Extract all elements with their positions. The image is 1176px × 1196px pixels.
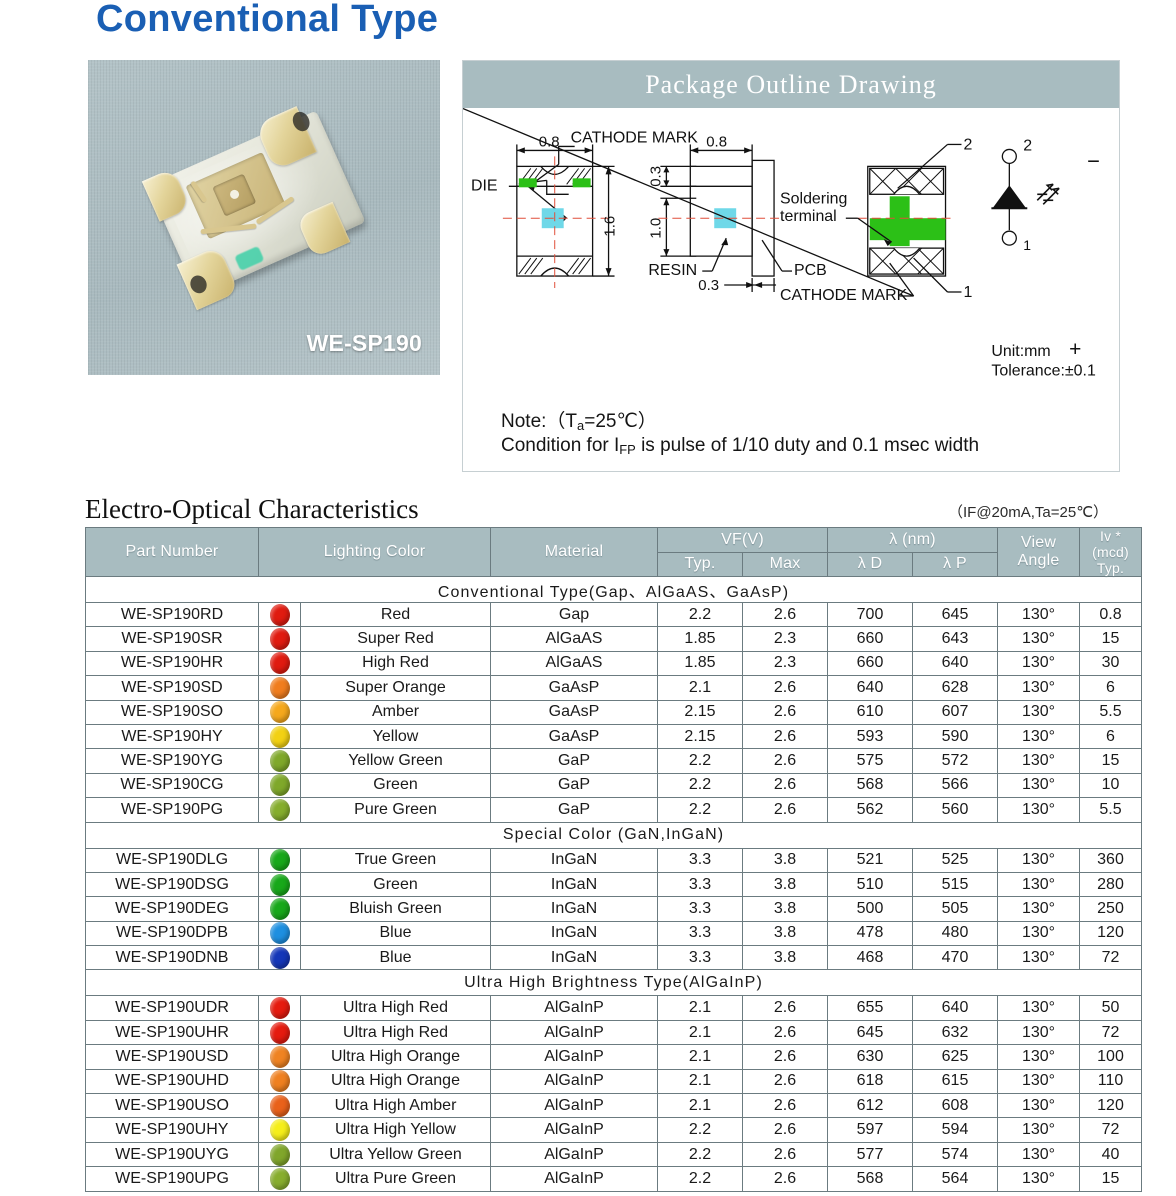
col-header-vf-typ: Typ. — [658, 552, 743, 577]
cell-lambda-p: 640 — [913, 996, 998, 1020]
dim-side-top: 0.3 — [647, 166, 664, 187]
led-color-dot-icon — [270, 898, 290, 920]
cell-vf-typ: 3.3 — [658, 946, 743, 970]
label-cathode-mark-bottom: CATHODE MARK — [780, 287, 908, 304]
cell-lambda-d: 618 — [828, 1069, 913, 1093]
view-angle-line-2: Angle — [998, 552, 1079, 570]
cell-lighting-color: Ultra Pure Green — [301, 1167, 491, 1191]
cell-view-angle: 130° — [998, 651, 1080, 675]
cell-lambda-d: 577 — [828, 1142, 913, 1166]
table-row[interactable]: WE-SP190UYGUltra Yellow GreenAlGaInP2.22… — [86, 1142, 1142, 1166]
cell-lambda-p: 572 — [913, 749, 998, 773]
cell-vf-max: 2.3 — [743, 627, 828, 651]
cell-color-swatch — [259, 798, 301, 822]
cell-vf-max: 2.6 — [743, 1045, 828, 1069]
cell-part-number: WE-SP190USD — [86, 1045, 259, 1069]
cell-vf-typ: 2.1 — [658, 676, 743, 700]
cell-lambda-d: 700 — [828, 603, 913, 627]
cell-vf-typ: 2.1 — [658, 1045, 743, 1069]
cell-lighting-color: Green — [301, 773, 491, 797]
table-row[interactable]: WE-SP190UPGUltra Pure GreenAlGaInP2.22.6… — [86, 1167, 1142, 1191]
cell-material: AlGaAS — [491, 627, 658, 651]
cell-lambda-p: 574 — [913, 1142, 998, 1166]
cell-part-number: WE-SP190SR — [86, 627, 259, 651]
cell-lambda-d: 660 — [828, 627, 913, 651]
table-row[interactable]: WE-SP190UHDUltra High OrangeAlGaInP2.12.… — [86, 1069, 1142, 1093]
cell-iv-typ: 6 — [1080, 724, 1142, 748]
cell-lambda-p: 625 — [913, 1045, 998, 1069]
cell-view-angle: 130° — [998, 627, 1080, 651]
cell-view-angle: 130° — [998, 773, 1080, 797]
cell-lambda-p: 645 — [913, 603, 998, 627]
cell-material: GaAsP — [491, 724, 658, 748]
table-row[interactable]: WE-SP190SRSuper RedAlGaAS1.852.366064313… — [86, 627, 1142, 651]
table-row[interactable]: WE-SP190DSGGreenInGaN3.33.8510515130°280 — [86, 872, 1142, 896]
cell-material: InGaN — [491, 921, 658, 945]
cell-part-number: WE-SP190UPG — [86, 1167, 259, 1191]
cell-vf-typ: 2.2 — [658, 798, 743, 822]
cell-lambda-p: 525 — [913, 848, 998, 872]
dim-top-height: 1.6 — [602, 216, 619, 237]
cell-view-angle: 130° — [998, 1167, 1080, 1191]
cell-vf-typ: 2.1 — [658, 1020, 743, 1044]
cell-part-number: WE-SP190USO — [86, 1094, 259, 1118]
led-color-dot-icon — [270, 701, 290, 723]
col-header-lambda-d: λ D — [828, 552, 913, 577]
cell-vf-max: 2.6 — [743, 996, 828, 1020]
cell-view-angle: 130° — [998, 700, 1080, 724]
cell-part-number: WE-SP190DPB — [86, 921, 259, 945]
cell-lambda-p: 640 — [913, 651, 998, 675]
label-pcb: PCB — [794, 262, 827, 279]
cell-iv-typ: 72 — [1080, 946, 1142, 970]
col-header-material: Material — [491, 528, 658, 577]
cell-vf-max: 2.6 — [743, 700, 828, 724]
table-head: Part Number Lighting Color Material VF(V… — [86, 528, 1142, 577]
cell-vf-typ: 2.15 — [658, 700, 743, 724]
cell-lighting-color: Ultra High Yellow — [301, 1118, 491, 1142]
led-color-dot-icon — [270, 1070, 290, 1092]
cell-iv-typ: 72 — [1080, 1118, 1142, 1142]
led-color-dot-icon — [270, 997, 290, 1019]
cell-vf-typ: 3.3 — [658, 848, 743, 872]
led-color-dot-icon — [270, 652, 290, 674]
cell-vf-max: 3.8 — [743, 946, 828, 970]
cell-vf-typ: 2.1 — [658, 1069, 743, 1093]
cell-part-number: WE-SP190UHY — [86, 1118, 259, 1142]
cell-view-angle: 130° — [998, 848, 1080, 872]
cell-part-number: WE-SP190YG — [86, 749, 259, 773]
cell-lambda-d: 510 — [828, 872, 913, 896]
cell-material: AlGaInP — [491, 1094, 658, 1118]
cell-lighting-color: Green — [301, 872, 491, 896]
cell-color-swatch — [259, 1069, 301, 1093]
note-2-sub: FP — [619, 442, 636, 457]
col-header-part-number: Part Number — [86, 528, 259, 577]
cell-iv-typ: 40 — [1080, 1142, 1142, 1166]
cell-iv-typ: 15 — [1080, 749, 1142, 773]
label-die: DIE — [471, 177, 498, 194]
col-header-lambda: λ (nm) — [828, 528, 998, 553]
cell-view-angle: 130° — [998, 996, 1080, 1020]
package-outline-header: Package Outline Drawing — [463, 61, 1119, 108]
cell-color-swatch — [259, 1142, 301, 1166]
cell-color-swatch — [259, 603, 301, 627]
led-color-dot-icon — [270, 947, 290, 969]
led-color-dot-icon — [270, 874, 290, 896]
table-group-label: Special Color (GaN,InGaN) — [86, 822, 1142, 848]
cell-lambda-p: 628 — [913, 676, 998, 700]
cell-material: AlGaInP — [491, 1045, 658, 1069]
table-group-row: Conventional Type(Gap、AlGaAS、GaAsP) — [86, 577, 1142, 603]
led-color-dot-icon — [270, 799, 290, 821]
table-group-row: Ultra High Brightness Type(AlGaInP) — [86, 970, 1142, 996]
cell-view-angle: 130° — [998, 724, 1080, 748]
cell-lambda-d: 597 — [828, 1118, 913, 1142]
table-row[interactable]: WE-SP190HYYellowGaAsP2.152.6593590130°6 — [86, 724, 1142, 748]
cell-lambda-p: 632 — [913, 1020, 998, 1044]
cell-vf-max: 2.6 — [743, 1069, 828, 1093]
iv-line-1: Iv * — [1080, 528, 1141, 544]
led-color-dot-icon — [270, 677, 290, 699]
dim-side-width: 0.8 — [706, 133, 727, 150]
cell-lighting-color: Ultra High Red — [301, 996, 491, 1020]
cell-color-swatch — [259, 1118, 301, 1142]
table-group-label: Ultra High Brightness Type(AlGaInP) — [86, 970, 1142, 996]
cell-color-swatch — [259, 921, 301, 945]
cell-part-number: WE-SP190UYG — [86, 1142, 259, 1166]
cell-iv-typ: 0.8 — [1080, 603, 1142, 627]
package-outline-panel: Package Outline Drawing CATHODE MARK DIE… — [462, 60, 1120, 472]
cell-vf-typ: 3.3 — [658, 921, 743, 945]
table-row[interactable]: WE-SP190USOUltra High AmberAlGaInP2.12.6… — [86, 1094, 1142, 1118]
cell-lambda-p: 615 — [913, 1069, 998, 1093]
cell-vf-typ: 2.2 — [658, 749, 743, 773]
cell-color-swatch — [259, 897, 301, 921]
cell-material: AlGaInP — [491, 1167, 658, 1191]
cell-iv-typ: 120 — [1080, 1094, 1142, 1118]
label-pin-1: 1 — [1023, 237, 1031, 253]
cell-lambda-d: 640 — [828, 676, 913, 700]
cell-lambda-d: 575 — [828, 749, 913, 773]
note-2-suffix: is pulse of 1/10 duty and 0.1 msec width — [636, 435, 979, 456]
cell-color-swatch — [259, 996, 301, 1020]
led-color-dot-icon — [270, 628, 290, 650]
note-line-1: Note:（Ta=25℃） — [501, 406, 657, 433]
table-row[interactable]: WE-SP190DNBBlueInGaN3.33.8468470130°72 — [86, 946, 1142, 970]
cell-lighting-color: Ultra Yellow Green — [301, 1142, 491, 1166]
cell-material: InGaN — [491, 872, 658, 896]
cell-color-swatch — [259, 700, 301, 724]
label-minus-sign: − — [1087, 148, 1100, 173]
cell-color-swatch — [259, 749, 301, 773]
cell-vf-max: 2.6 — [743, 603, 828, 627]
cell-part-number: WE-SP190SD — [86, 676, 259, 700]
cell-lighting-color: True Green — [301, 848, 491, 872]
cell-vf-typ: 3.3 — [658, 897, 743, 921]
cell-material: GaP — [491, 773, 658, 797]
cell-view-angle: 130° — [998, 676, 1080, 700]
led-color-dot-icon — [270, 1022, 290, 1044]
table-row[interactable]: WE-SP190UHRUltra High RedAlGaInP2.12.664… — [86, 1020, 1142, 1044]
table-header-row-1: Part Number Lighting Color Material VF(V… — [86, 528, 1142, 553]
cell-lambda-d: 468 — [828, 946, 913, 970]
cell-iv-typ: 250 — [1080, 897, 1142, 921]
cell-lambda-d: 630 — [828, 1045, 913, 1069]
cell-part-number: WE-SP190DEG — [86, 897, 259, 921]
cell-view-angle: 130° — [998, 603, 1080, 627]
led-color-dot-icon — [270, 922, 290, 944]
cell-lighting-color: Yellow Green — [301, 749, 491, 773]
note-line-2: Condition for IFP is pulse of 1/10 duty … — [501, 435, 979, 457]
cell-part-number: WE-SP190DNB — [86, 946, 259, 970]
note-1-suffix: =25℃） — [584, 411, 657, 432]
cell-lighting-color: Blue — [301, 921, 491, 945]
cell-part-number: WE-SP190UHD — [86, 1069, 259, 1093]
cell-lambda-p: 505 — [913, 897, 998, 921]
cell-lambda-d: 500 — [828, 897, 913, 921]
cell-color-swatch — [259, 676, 301, 700]
cell-lambda-p: 470 — [913, 946, 998, 970]
cell-vf-max: 3.8 — [743, 897, 828, 921]
cell-color-swatch — [259, 773, 301, 797]
cell-iv-typ: 6 — [1080, 676, 1142, 700]
cell-iv-typ: 50 — [1080, 996, 1142, 1020]
cell-view-angle: 130° — [998, 1069, 1080, 1093]
cell-vf-max: 2.6 — [743, 1020, 828, 1044]
cell-iv-typ: 360 — [1080, 848, 1142, 872]
cell-iv-typ: 110 — [1080, 1069, 1142, 1093]
cell-lambda-d: 655 — [828, 996, 913, 1020]
cell-vf-typ: 1.85 — [658, 651, 743, 675]
cell-color-swatch — [259, 872, 301, 896]
table-body: Conventional Type(Gap、AlGaAS、GaAsP)WE-SP… — [86, 577, 1142, 1192]
led-color-dot-icon — [270, 726, 290, 748]
cell-material: AlGaInP — [491, 1069, 658, 1093]
col-header-vf-max: Max — [743, 552, 828, 577]
label-unit: Unit:mm — [991, 343, 1050, 360]
table-row[interactable]: WE-SP190SOAmberGaAsP2.152.6610607130°5.5 — [86, 700, 1142, 724]
table-row[interactable]: WE-SP190UHYUltra High YellowAlGaInP2.22.… — [86, 1118, 1142, 1142]
cell-color-swatch — [259, 1020, 301, 1044]
cell-view-angle: 130° — [998, 1094, 1080, 1118]
cell-material: InGaN — [491, 897, 658, 921]
cell-vf-max: 2.6 — [743, 724, 828, 748]
led-color-dot-icon — [270, 849, 290, 871]
section-condition: （IF@20mA,Ta=25℃） — [948, 501, 1108, 522]
note-1-prefix: Note:（T — [501, 411, 577, 432]
cell-lighting-color: Blue — [301, 946, 491, 970]
cell-color-swatch — [259, 1045, 301, 1069]
cell-vf-max: 3.8 — [743, 921, 828, 945]
cell-lighting-color: Yellow — [301, 724, 491, 748]
cell-lambda-d: 612 — [828, 1094, 913, 1118]
cell-part-number: WE-SP190UDR — [86, 996, 259, 1020]
cell-part-number: WE-SP190CG — [86, 773, 259, 797]
section-heading: Electro-Optical Characteristics — [85, 494, 419, 525]
cell-lambda-d: 521 — [828, 848, 913, 872]
cell-part-number: WE-SP190PG — [86, 798, 259, 822]
cell-lambda-p: 564 — [913, 1167, 998, 1191]
cell-material: GaAsP — [491, 700, 658, 724]
col-header-vf: VF(V) — [658, 528, 828, 553]
cell-vf-max: 3.8 — [743, 848, 828, 872]
cell-iv-typ: 10 — [1080, 773, 1142, 797]
cell-lambda-p: 594 — [913, 1118, 998, 1142]
label-cathode-mark-top: CATHODE MARK — [571, 129, 699, 146]
table-row[interactable]: WE-SP190SDSuper OrangeGaAsP2.12.66406281… — [86, 676, 1142, 700]
cell-part-number: WE-SP190UHR — [86, 1020, 259, 1044]
table-row[interactable]: WE-SP190HRHigh RedAlGaAS1.852.3660640130… — [86, 651, 1142, 675]
dim-side-thickness: 0.3 — [698, 277, 719, 294]
cell-iv-typ: 30 — [1080, 651, 1142, 675]
cell-lambda-p: 560 — [913, 798, 998, 822]
cell-vf-max: 2.6 — [743, 773, 828, 797]
cell-lambda-d: 478 — [828, 921, 913, 945]
label-resin: RESIN — [648, 262, 697, 279]
cell-iv-typ: 5.5 — [1080, 700, 1142, 724]
cell-view-angle: 130° — [998, 946, 1080, 970]
cell-material: AlGaInP — [491, 1118, 658, 1142]
photo-caption: WE-SP190 — [307, 330, 422, 357]
cell-iv-typ: 5.5 — [1080, 798, 1142, 822]
table-row[interactable]: WE-SP190DPBBlueInGaN3.33.8478480130°120 — [86, 921, 1142, 945]
cell-lighting-color: Super Orange — [301, 676, 491, 700]
cell-lighting-color: Ultra High Amber — [301, 1094, 491, 1118]
cell-vf-max: 2.6 — [743, 676, 828, 700]
cell-color-swatch — [259, 627, 301, 651]
col-header-view-angle: View Angle — [998, 528, 1080, 577]
cell-view-angle: 130° — [998, 798, 1080, 822]
cell-vf-max: 2.6 — [743, 749, 828, 773]
table-group-row: Special Color (GaN,InGaN) — [86, 822, 1142, 848]
cell-vf-typ: 2.1 — [658, 996, 743, 1020]
cell-part-number: WE-SP190DLG — [86, 848, 259, 872]
cell-color-swatch — [259, 651, 301, 675]
label-tolerance: Tolerance:±0.1 — [991, 363, 1096, 380]
cell-vf-typ: 2.2 — [658, 603, 743, 627]
cell-view-angle: 130° — [998, 1045, 1080, 1069]
col-header-lambda-p: λ P — [913, 552, 998, 577]
cell-part-number: WE-SP190SO — [86, 700, 259, 724]
cell-vf-typ: 3.3 — [658, 872, 743, 896]
cell-view-angle: 130° — [998, 749, 1080, 773]
table-row[interactable]: WE-SP190USDUltra High OrangeAlGaInP2.12.… — [86, 1045, 1142, 1069]
label-plus-sign: + — [1069, 338, 1081, 361]
cell-iv-typ: 72 — [1080, 1020, 1142, 1044]
page-title: Conventional Type — [96, 0, 438, 41]
cell-iv-typ: 15 — [1080, 627, 1142, 651]
cell-lighting-color: Bluish Green — [301, 897, 491, 921]
led-color-dot-icon — [270, 1095, 290, 1117]
label-lead-1: 1 — [963, 284, 972, 301]
table-row[interactable]: WE-SP190PGPure GreenGaP2.22.6562560130°5… — [86, 798, 1142, 822]
cell-part-number: WE-SP190DSG — [86, 872, 259, 896]
label-pin-2: 2 — [1023, 137, 1032, 154]
cell-vf-typ: 2.15 — [658, 724, 743, 748]
cell-lighting-color: Pure Green — [301, 798, 491, 822]
cell-material: GaP — [491, 798, 658, 822]
cell-lambda-d: 593 — [828, 724, 913, 748]
cell-color-swatch — [259, 724, 301, 748]
package-outline-title: Package Outline Drawing — [645, 70, 937, 100]
led-color-dot-icon — [270, 604, 290, 626]
cell-vf-typ: 2.2 — [658, 773, 743, 797]
cell-iv-typ: 15 — [1080, 1167, 1142, 1191]
cell-vf-max: 2.6 — [743, 1094, 828, 1118]
cell-part-number: WE-SP190RD — [86, 603, 259, 627]
cell-part-number: WE-SP190HR — [86, 651, 259, 675]
cell-material: AlGaInP — [491, 996, 658, 1020]
led-color-dot-icon — [270, 1046, 290, 1068]
cell-color-swatch — [259, 848, 301, 872]
cell-vf-typ: 1.85 — [658, 627, 743, 651]
cell-lighting-color: Ultra High Orange — [301, 1069, 491, 1093]
cell-vf-max: 3.8 — [743, 872, 828, 896]
cell-color-swatch — [259, 1094, 301, 1118]
iv-line-3: Typ. — [1080, 560, 1141, 576]
table-row[interactable]: WE-SP190DEGBluish GreenInGaN3.33.8500505… — [86, 897, 1142, 921]
cell-lambda-d: 568 — [828, 1167, 913, 1191]
cell-vf-typ: 2.1 — [658, 1094, 743, 1118]
cell-material: Gap — [491, 603, 658, 627]
iv-line-2: (mcd) — [1080, 544, 1141, 560]
product-photo-panel: WE-SP190 — [88, 60, 440, 375]
table-row[interactable]: WE-SP190RDRedGap2.22.6700645130°0.8 — [86, 603, 1142, 627]
cell-lambda-p: 643 — [913, 627, 998, 651]
cell-vf-max: 2.6 — [743, 798, 828, 822]
cell-material: InGaN — [491, 946, 658, 970]
cell-vf-typ: 2.2 — [658, 1167, 743, 1191]
cell-view-angle: 130° — [998, 1142, 1080, 1166]
cell-color-swatch — [259, 946, 301, 970]
cell-lambda-p: 566 — [913, 773, 998, 797]
table-row[interactable]: WE-SP190YGYellow GreenGaP2.22.6575572130… — [86, 749, 1142, 773]
cell-material: AlGaInP — [491, 1142, 658, 1166]
cell-lambda-p: 607 — [913, 700, 998, 724]
cell-vf-max: 2.6 — [743, 1118, 828, 1142]
table-row[interactable]: WE-SP190DLGTrue GreenInGaN3.33.852152513… — [86, 848, 1142, 872]
cell-vf-typ: 2.2 — [658, 1142, 743, 1166]
table-row[interactable]: WE-SP190CGGreenGaP2.22.6568566130°10 — [86, 773, 1142, 797]
dim-side-mid: 1.0 — [647, 218, 664, 239]
cell-lambda-d: 645 — [828, 1020, 913, 1044]
cell-iv-typ: 120 — [1080, 921, 1142, 945]
cell-lighting-color: Super Red — [301, 627, 491, 651]
cell-lambda-d: 660 — [828, 651, 913, 675]
table-group-label: Conventional Type(Gap、AlGaAS、GaAsP) — [86, 577, 1142, 603]
led-color-dot-icon — [270, 774, 290, 796]
label-lead-2: 2 — [963, 136, 972, 153]
cell-material: AlGaAS — [491, 651, 658, 675]
cell-view-angle: 130° — [998, 921, 1080, 945]
led-color-dot-icon — [270, 750, 290, 772]
cell-lighting-color: Ultra High Orange — [301, 1045, 491, 1069]
cell-material: GaP — [491, 749, 658, 773]
cell-material: InGaN — [491, 848, 658, 872]
led-color-dot-icon — [270, 1144, 290, 1166]
table-row[interactable]: WE-SP190UDRUltra High RedAlGaInP2.12.665… — [86, 996, 1142, 1020]
label-soldering-terminal-line2: terminal — [780, 208, 837, 225]
cell-vf-max: 2.6 — [743, 1142, 828, 1166]
cell-color-swatch — [259, 1167, 301, 1191]
cell-lighting-color: Red — [301, 603, 491, 627]
cell-vf-max: 2.3 — [743, 651, 828, 675]
col-header-iv: Iv * (mcd) Typ. — [1080, 528, 1142, 577]
view-angle-line-1: View — [998, 534, 1079, 552]
cell-view-angle: 130° — [998, 1020, 1080, 1044]
cell-vf-typ: 2.2 — [658, 1118, 743, 1142]
